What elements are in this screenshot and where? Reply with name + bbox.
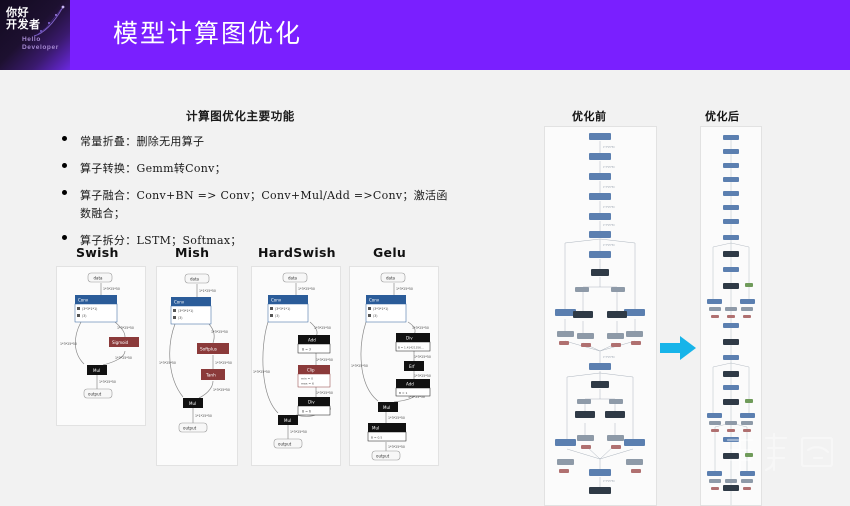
svg-text:Sigmoid: Sigmoid	[112, 340, 129, 345]
svg-text:1*3*25*50: 1*3*25*50	[60, 342, 77, 346]
svg-text:1*3*25*50: 1*3*25*50	[603, 166, 615, 169]
svg-text:1*3*25*50: 1*3*25*50	[603, 224, 615, 227]
svg-text:1*3*25*50: 1*3*25*50	[414, 374, 431, 378]
svg-text:1*3*25*50: 1*3*25*50	[316, 391, 333, 395]
svg-text:1*3*25*50: 1*3*25*50	[603, 146, 615, 149]
svg-text:data: data	[94, 275, 104, 280]
activation-label-hardswish: HardSwish	[258, 245, 336, 260]
svg-text:output: output	[183, 425, 197, 430]
activation-graph-hardswish[interactable]: 1*3*25*50 1*3*25*50 1*3*25*50 1*3*25*50 …	[251, 266, 341, 466]
activation-graph-swish[interactable]: 1*3*25*50 1*3*25*50 1*3*25*50 1*3*25*50 …	[56, 266, 146, 426]
svg-text:output: output	[278, 441, 292, 446]
svg-text:1*3*25*50: 1*3*25*50	[99, 380, 116, 384]
svg-text:Mul: Mul	[383, 405, 390, 410]
svg-text:1*3*25*50: 1*3*25*50	[316, 358, 333, 362]
list-item: 算子融合：Conv+BN => Conv；Conv+Mul/Add =>Conv…	[58, 186, 458, 222]
svg-text:1*1*25*50: 1*1*25*50	[199, 289, 216, 293]
svg-text:(3): (3)	[275, 314, 280, 318]
svg-text:(3*3*1*1): (3*3*1*1)	[275, 307, 290, 311]
svg-text:1*3*25*50: 1*3*25*50	[298, 287, 315, 291]
svg-text:1*3*25*50: 1*3*25*50	[412, 326, 429, 330]
svg-text:1*3*25*50: 1*3*25*50	[603, 244, 615, 247]
svg-text:Clip: Clip	[307, 368, 315, 373]
hardswish-graph-svg: 1*3*25*50 1*3*25*50 1*3*25*50 1*3*25*50 …	[252, 267, 340, 465]
svg-text:1*3*25*50: 1*3*25*50	[253, 370, 270, 374]
svg-text:1*3*25*50: 1*3*25*50	[290, 430, 307, 434]
list-item: 常量折叠：删除无用算子	[58, 132, 458, 150]
svg-text:1*3*25*50: 1*3*25*50	[115, 356, 132, 360]
svg-text:1*3*25*50: 1*3*25*50	[414, 355, 431, 359]
svg-text:1*3*25*50: 1*3*25*50	[396, 287, 413, 291]
svg-text:Conv: Conv	[369, 297, 380, 302]
svg-text:B = 3: B = 3	[302, 347, 311, 351]
svg-text:Tanh: Tanh	[205, 373, 216, 378]
svg-text:Conv: Conv	[174, 299, 185, 304]
feature-bullet-list: 常量折叠：删除无用算子 算子转换：Gemm转Conv； 算子融合：Conv+BN…	[58, 132, 458, 258]
svg-text:Mul: Mul	[372, 426, 379, 431]
svg-text:Conv: Conv	[271, 297, 282, 302]
svg-text:min = 0: min = 0	[301, 377, 313, 381]
svg-text:Div: Div	[308, 400, 315, 405]
svg-text:1*3*25*50: 1*3*25*50	[314, 326, 331, 330]
svg-text:(3): (3)	[82, 314, 87, 318]
svg-text:1*3*25*50: 1*3*25*50	[603, 206, 615, 209]
svg-text:1*3*25*50: 1*3*25*50	[351, 364, 368, 368]
svg-text:1*3*25*50: 1*3*25*50	[603, 480, 615, 483]
svg-text:1*3*25*50: 1*3*25*50	[159, 361, 176, 365]
svg-text:1*3*25*50: 1*3*25*50	[213, 388, 230, 392]
svg-text:data: data	[288, 275, 298, 280]
mish-graph-svg: 1*1*25*50 1*3*25*50 1*3*25*50 1*3*25*50 …	[157, 267, 237, 465]
activation-label-gelu: Gelu	[373, 245, 406, 260]
svg-text:Erf: Erf	[409, 364, 415, 369]
svg-text:B = 6: B = 6	[302, 409, 311, 413]
svg-text:(3*3*1*1): (3*3*1*1)	[178, 309, 193, 313]
svg-text:(3): (3)	[178, 316, 183, 320]
svg-text:(3*3*1*1): (3*3*1*1)	[82, 307, 97, 311]
svg-text:B = 0.5: B = 0.5	[371, 435, 382, 439]
svg-text:1*1*25*50: 1*1*25*50	[195, 414, 212, 418]
swish-graph-svg: 1*3*25*50 1*3*25*50 1*3*25*50 1*3*25*50 …	[57, 267, 145, 425]
bullet-text: 算子转换：Gemm转Conv；	[80, 162, 226, 175]
bullet-text: 常量折叠：删除无用算子	[80, 135, 204, 148]
page-title: 模型计算图优化	[113, 18, 302, 50]
gelu-graph-svg: 1*3*25*50 1*3*25*50 1*3*25*50 1*3*25*50 …	[350, 267, 438, 465]
graph-before-optimization[interactable]: 1*3*25*50 1*3*25*50 1*3*25*50 1*3*25*50 …	[544, 126, 657, 506]
svg-text:1*3*25*50: 1*3*25*50	[388, 416, 405, 420]
svg-text:output: output	[376, 453, 390, 458]
feature-section-title: 计算图优化主要功能	[186, 108, 295, 124]
logo-en-text: Hello Developer	[22, 36, 59, 52]
svg-text:Mul: Mul	[284, 418, 291, 423]
svg-text:Add: Add	[308, 338, 316, 343]
svg-text:1*3*25*50: 1*3*25*50	[117, 326, 134, 330]
svg-text:1*3*25*50: 1*3*25*50	[103, 287, 120, 291]
svg-text:output: output	[88, 391, 102, 396]
before-graph-svg: 1*3*25*50 1*3*25*50 1*3*25*50 1*3*25*50 …	[545, 127, 656, 505]
svg-text:1*3*25*50: 1*3*25*50	[388, 445, 405, 449]
svg-text:max = 6: max = 6	[301, 382, 314, 386]
bullet-dot-icon	[62, 190, 67, 195]
list-item: 算子转换：Gemm转Conv；	[58, 159, 458, 177]
bullet-dot-icon	[62, 163, 67, 168]
arrow-right-icon	[658, 332, 698, 364]
svg-text:1*3*25*50: 1*3*25*50	[603, 186, 615, 189]
comparison-label-after: 优化后	[705, 108, 740, 124]
activation-label-mish: Mish	[175, 245, 209, 260]
svg-text:data: data	[190, 276, 200, 281]
svg-text:Div: Div	[406, 336, 413, 341]
logo-cn-text: 你好 开发者	[6, 7, 41, 31]
activation-graph-mish[interactable]: 1*1*25*50 1*3*25*50 1*3*25*50 1*3*25*50 …	[156, 266, 238, 466]
slide-body: 计算图优化主要功能 常量折叠：删除无用算子 算子转换：Gemm转Conv； 算子…	[0, 70, 850, 478]
svg-text:(3): (3)	[373, 314, 378, 318]
svg-text:data: data	[386, 275, 396, 280]
svg-text:B = 1.41421356...: B = 1.41421356...	[398, 345, 424, 349]
svg-text:Mul: Mul	[189, 401, 196, 406]
activation-graph-gelu[interactable]: 1*3*25*50 1*3*25*50 1*3*25*50 1*3*25*50 …	[349, 266, 439, 466]
activation-label-swish: Swish	[76, 245, 119, 260]
svg-text:Add: Add	[406, 382, 414, 387]
hello-developer-logo: 你好 开发者 Hello Developer	[0, 0, 70, 70]
svg-text:1*3*25*50: 1*3*25*50	[603, 356, 615, 359]
svg-text:Conv: Conv	[78, 297, 89, 302]
svg-text:(3*3*1*1): (3*3*1*1)	[373, 307, 388, 311]
svg-text:1*3*25*50: 1*3*25*50	[215, 361, 232, 365]
svg-text:B = 1: B = 1	[399, 391, 407, 395]
bullet-dot-icon	[62, 235, 67, 240]
slide-header: 你好 开发者 Hello Developer 模型计算图优化	[0, 0, 850, 70]
svg-text:Mul: Mul	[93, 368, 100, 373]
watermark-logo: 车东西	[716, 430, 844, 476]
svg-text:1*3*25*50: 1*3*25*50	[211, 330, 228, 334]
svg-text:Softplus: Softplus	[200, 347, 217, 352]
slide-root: 你好 开发者 Hello Developer 模型计算图优化 计算图优化主要功能…	[0, 0, 850, 478]
comparison-label-before: 优化前	[572, 108, 607, 124]
bullet-dot-icon	[62, 136, 67, 141]
bullet-text: 算子融合：Conv+BN => Conv；Conv+Mul/Add =>Conv…	[80, 189, 448, 220]
